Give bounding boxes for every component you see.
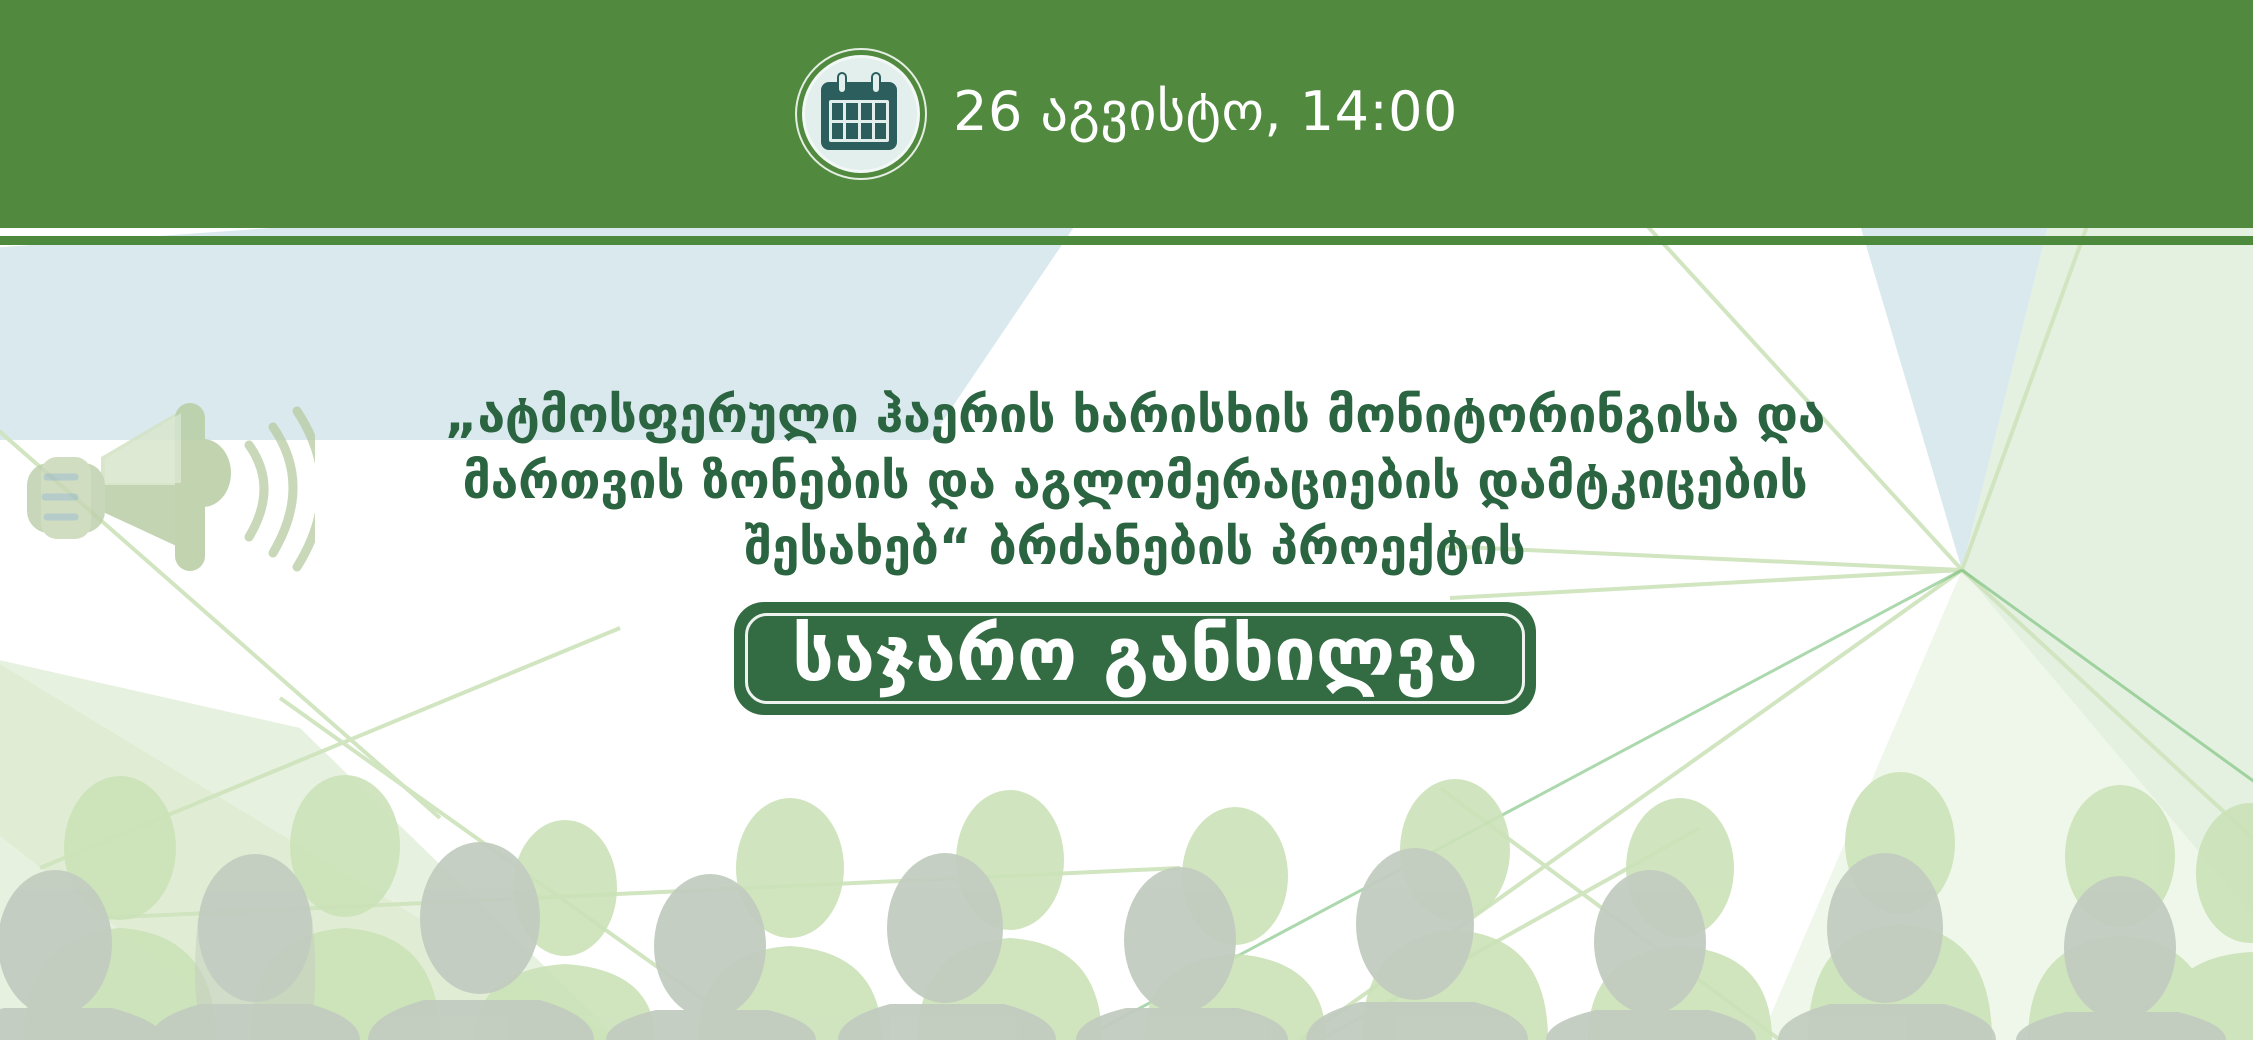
calendar-binder-left bbox=[837, 72, 847, 94]
banner-content: „ატმოსფერული ჰაერის ხარისხის მონიტორინგი… bbox=[310, 382, 1960, 715]
cta-label: საჯარო განხილვა bbox=[792, 618, 1478, 693]
calendar-icon bbox=[795, 48, 927, 180]
calendar-date-grid bbox=[829, 100, 889, 142]
page-title: „ატმოსფერული ჰაერის ხარისხის მონიტორინგი… bbox=[310, 382, 1960, 580]
title-line-3: შესახებ“ ბრძანების პროექტის bbox=[310, 514, 1960, 580]
megaphone-icon bbox=[5, 385, 315, 585]
header-divider-rule bbox=[0, 236, 2253, 245]
event-date-time: 26 აგვისტო, 14:00 bbox=[953, 85, 1458, 143]
title-line-1: „ატმოსფერული ჰაერის ხარისხის მონიტორინგი… bbox=[310, 382, 1960, 448]
calendar-binder-right bbox=[871, 72, 881, 94]
title-line-2: მართვის ზონების და აგლომერაციების დამტკი… bbox=[310, 448, 1960, 514]
header-bar: 26 აგვისტო, 14:00 bbox=[0, 0, 2253, 228]
public-hearing-banner: 26 აგვისტო, 14:00 bbox=[0, 0, 2253, 1040]
cta-container: საჯარო განხილვა bbox=[310, 602, 1960, 715]
calendar-glyph bbox=[821, 72, 897, 150]
public-hearing-button[interactable]: საჯარო განხილვა bbox=[734, 602, 1536, 715]
